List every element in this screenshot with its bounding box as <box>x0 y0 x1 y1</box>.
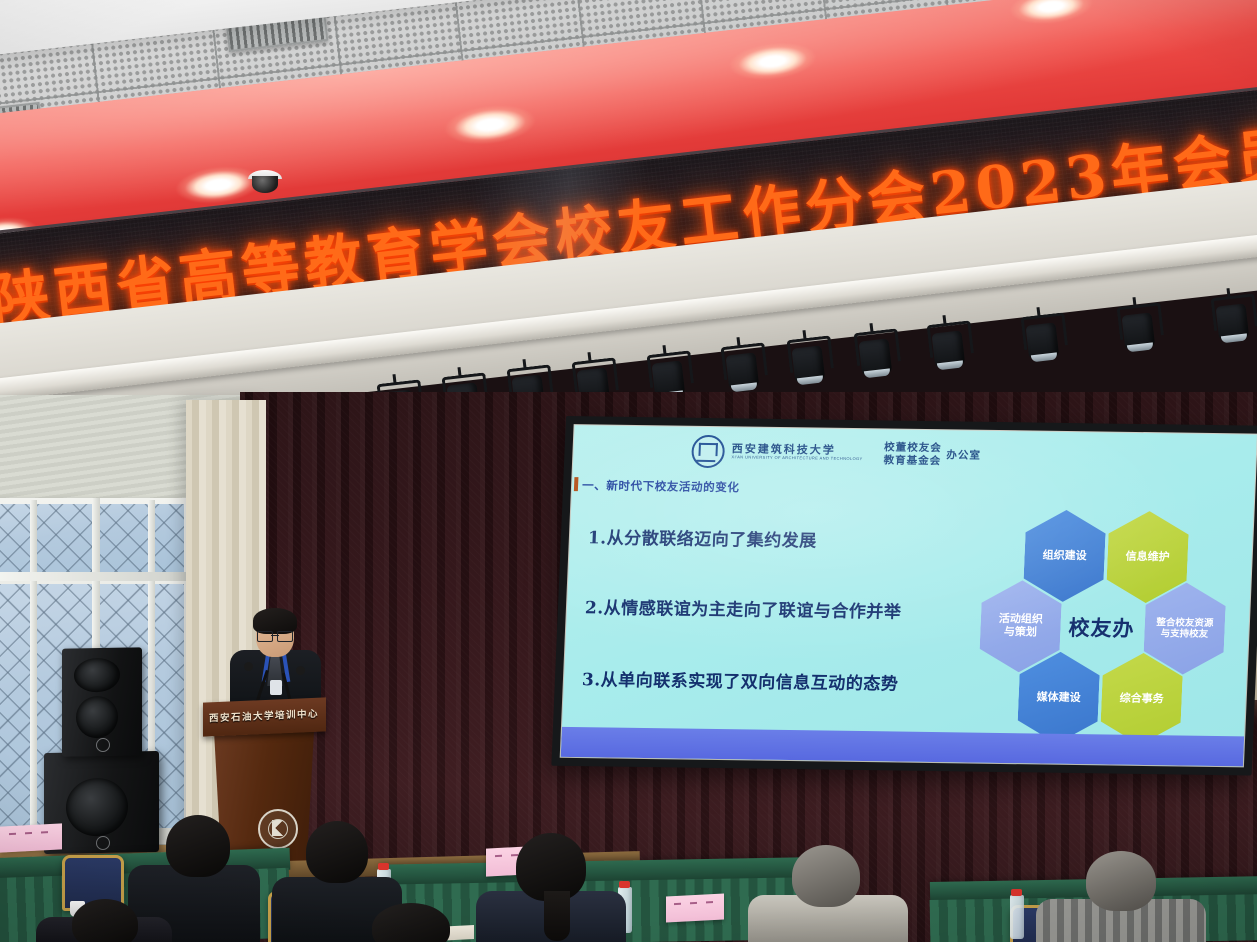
hex-line-1: 整合校友资源 <box>1156 617 1213 629</box>
slide-title-marker <box>574 477 579 491</box>
bottle-cap <box>378 863 389 870</box>
window-mullion <box>30 500 37 840</box>
microphone-head-icon <box>296 666 305 675</box>
office-line-2: 教育基金会 <box>883 454 941 467</box>
badge <box>270 680 282 695</box>
conference-hall-photo: 陕西省高等教育学会校友工作分会2023年会员大会暨校友工作研讨会 <box>0 0 1257 942</box>
par-can-light-icon <box>853 329 898 379</box>
hex-line-2: 与支持校友 <box>1160 628 1208 640</box>
hexagon-diagram: 组织建设 信息维护 活动组织与策划 整合校友资源与支持校友 媒体建设 综合事务 … <box>962 509 1242 748</box>
attendee-head <box>792 845 860 907</box>
office-suffix: 办公室 <box>946 447 981 462</box>
podium-sign-text: 西安石油大学培训中心 <box>209 706 319 725</box>
par-can-light-icon <box>1210 294 1255 344</box>
par-can-light-icon <box>786 336 831 386</box>
microphone-head-icon <box>244 662 253 671</box>
projection-screen: 西安建筑科技大学 XI'AN UNIVERSITY OF ARCHITECTUR… <box>551 416 1257 775</box>
attendee-head <box>306 821 368 883</box>
par-can-light-icon <box>926 321 971 371</box>
slide-bullet-2: 2.从情感联谊为主走向了联谊与合作并举 <box>585 593 902 622</box>
par-can-light-icon <box>1116 303 1161 353</box>
par-can-light-icon <box>1020 313 1065 363</box>
slide-bullet-1: 1.从分散联络迈向了集约发展 <box>587 523 817 551</box>
hex-line-1: 活动组织 <box>999 613 1044 626</box>
university-crest-icon <box>691 435 725 468</box>
university-name-en: XI'AN UNIVERSITY OF ARCHITECTURE AND TEC… <box>731 455 862 461</box>
attendee-head <box>72 899 138 942</box>
speaker-cabinet <box>62 647 142 756</box>
window-transom <box>0 572 190 581</box>
hex-center-label: 校友办 <box>1060 581 1144 674</box>
attendee-head <box>166 815 230 877</box>
office-line-1: 校董校友会 <box>884 441 942 454</box>
name-card <box>0 823 62 852</box>
bottle-cap <box>1011 889 1022 896</box>
eyeglasses-icon <box>257 631 293 640</box>
slide-title: 一、新时代下校友活动的变化 <box>582 477 740 495</box>
presentation-slide: 西安建筑科技大学 XI'AN UNIVERSITY OF ARCHITECTUR… <box>561 425 1257 766</box>
audience-area <box>0 795 1257 942</box>
dome-security-camera-icon <box>248 170 282 194</box>
slide-bullet-3: 3.从单向联系实现了双向信息互动的态势 <box>582 665 899 694</box>
attendee-head <box>1086 851 1156 911</box>
par-can-light-icon <box>720 343 765 393</box>
attendee-ponytail <box>544 891 570 941</box>
slide-logo-row: 西安建筑科技大学 XI'AN UNIVERSITY OF ARCHITECTUR… <box>691 435 982 472</box>
bottle-cap <box>619 881 630 888</box>
name-card <box>666 893 724 922</box>
podium-top: 西安石油大学培训中心 <box>203 697 326 736</box>
hex-line-2: 与策划 <box>1004 626 1038 638</box>
water-bottle <box>1010 895 1024 939</box>
office-block: 校董校友会 教育基金会 办公室 <box>883 441 981 468</box>
